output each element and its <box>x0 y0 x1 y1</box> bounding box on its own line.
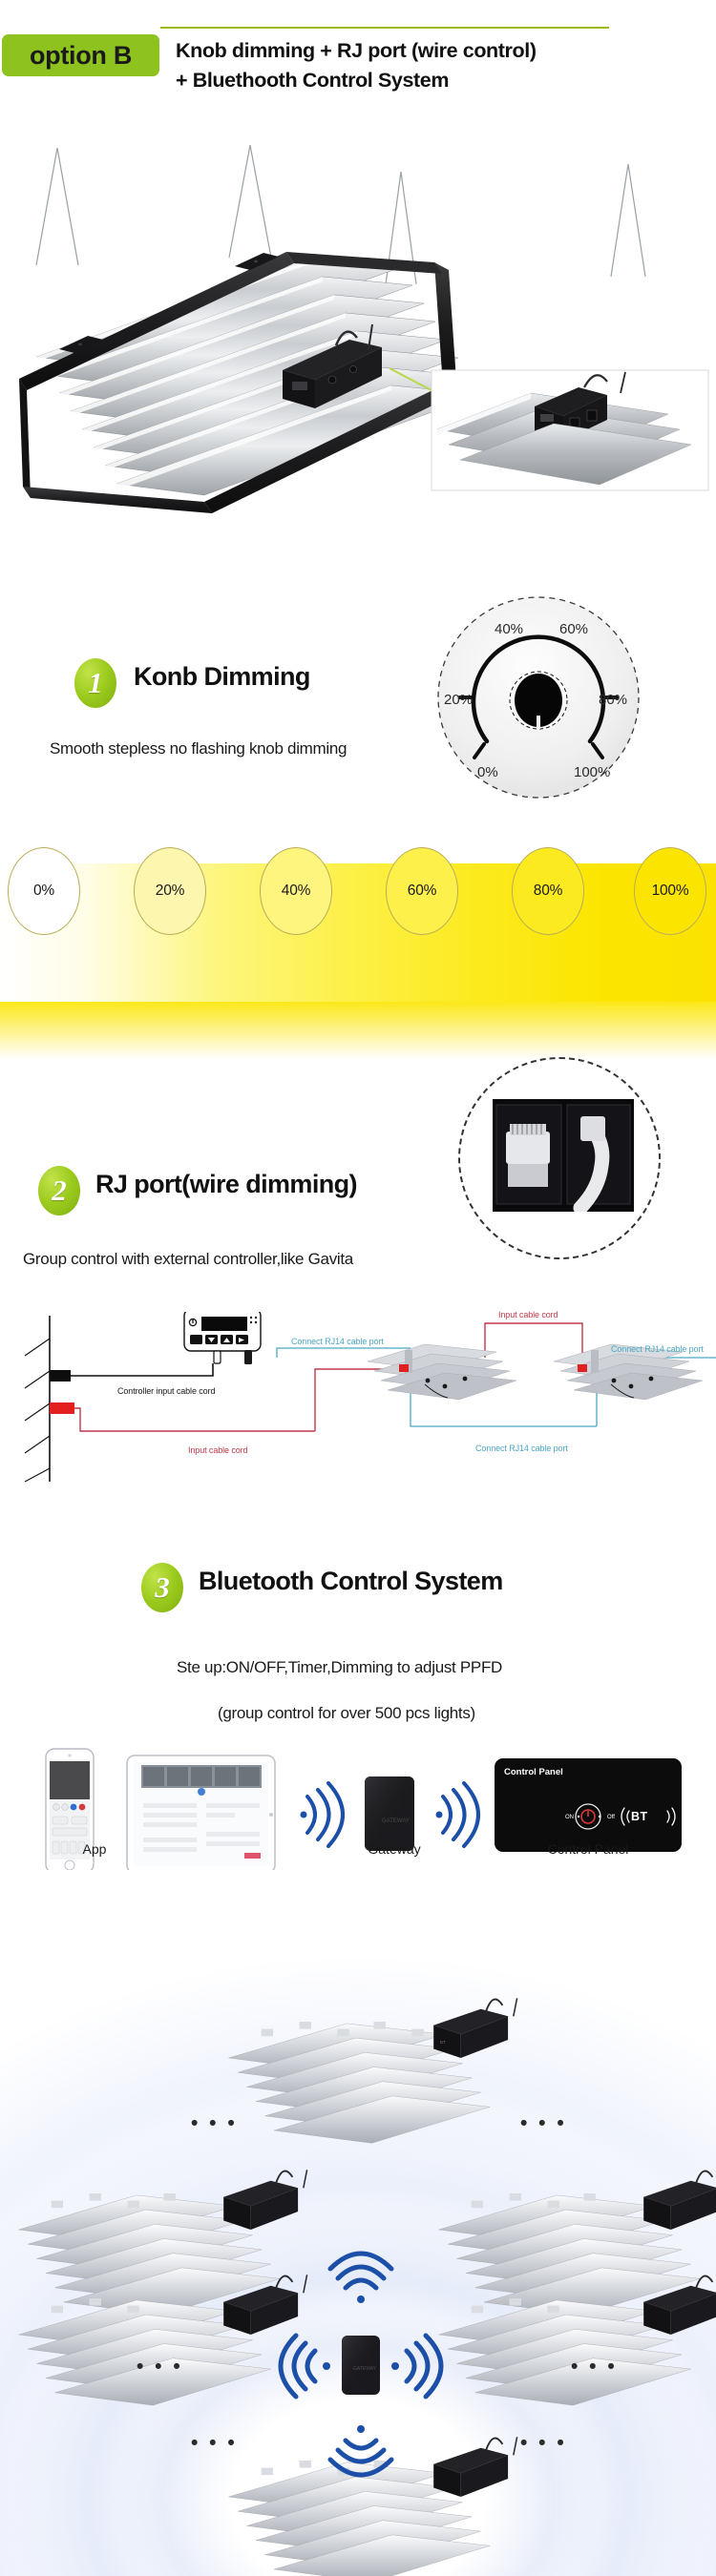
brightness-step-100[interactable]: 100% <box>634 847 706 935</box>
label-rj14-bottom: Connect RJ14 cable port <box>475 1444 568 1453</box>
light-fixture-1 <box>368 1344 516 1400</box>
bt-signal-arcs <box>621 1808 675 1825</box>
detail-inset <box>432 370 708 490</box>
bluetooth-wave-right <box>443 1783 478 1846</box>
network-fixture-top: BT <box>229 1998 517 2143</box>
network-gateway-device: GATEWAY <box>342 2336 380 2395</box>
svg-text:BT: BT <box>440 2040 446 2046</box>
grow-light-illustration <box>0 143 716 563</box>
bluetooth-wave-left <box>307 1783 343 1846</box>
light-frame <box>19 252 481 513</box>
label-input-cord-top: Input cable cord <box>498 1310 558 1319</box>
device-label-app: App <box>42 1841 147 1857</box>
wifi-icon-left <box>281 2336 315 2397</box>
dial-label-100: 100% <box>574 764 610 780</box>
wifi-icon-right <box>407 2336 441 2397</box>
brightness-step-60[interactable]: 60% <box>386 847 458 935</box>
label-rj14-top: Connect RJ14 cable port <box>291 1337 384 1346</box>
gateway-device: GATEWAY <box>365 1776 414 1851</box>
page-title-line1: Knob dimming + RJ port (wire control) <box>176 36 710 66</box>
bluetooth-network-diagram: BT <box>0 1870 716 2576</box>
wall-symbol <box>25 1316 50 1482</box>
ellipsis-bottom-left: • • • <box>191 2433 238 2453</box>
section-3-number: 3 <box>141 1563 183 1612</box>
section-1-subtitle: Smooth stepless no flashing knob dimming <box>50 739 347 758</box>
wifi-icon-down-dot <box>357 2425 365 2433</box>
ellipsis-mid-right: • • • <box>571 2357 618 2377</box>
page-title-line2: + Bluethooth Control System <box>176 66 710 95</box>
brightness-band-fade <box>0 1002 716 1059</box>
page-root: option B Knob dimming + RJ port (wire co… <box>0 0 716 2576</box>
control-panel-bt-label: BT <box>631 1810 648 1823</box>
section-2-number: 2 <box>38 1166 80 1215</box>
dial-label-80: 80% <box>599 692 627 708</box>
dial-label-40: 40% <box>495 621 523 637</box>
brightness-step-80[interactable]: 80% <box>512 847 584 935</box>
wifi-icon-up <box>330 2254 391 2288</box>
wifi-icon-right-dot <box>391 2362 399 2370</box>
wifi-icon-up-dot <box>357 2296 365 2303</box>
section-3-subtitle-2: (group control for over 500 pcs lights) <box>218 1704 475 1723</box>
header-rule <box>160 27 609 29</box>
section-3-title: Bluetooth Control System <box>199 1567 503 1596</box>
device-label-gateway: Gateway <box>342 1841 447 1857</box>
option-badge: option B <box>2 34 159 76</box>
dial-label-20: 20% <box>444 692 473 708</box>
tablet-device <box>127 1755 275 1873</box>
led-bars <box>36 259 481 495</box>
rj-port-photo <box>493 1099 634 1212</box>
control-panel-device[interactable]: Control Panel ON Off BT <box>495 1758 682 1852</box>
wiring-diagram: Controller input cable cord Input cable … <box>0 1312 716 1512</box>
section-1-title: Konb Dimming <box>134 662 310 692</box>
brightness-step-40[interactable]: 40% <box>260 847 332 935</box>
ellipsis-top-left: • • • <box>191 2113 238 2133</box>
ellipsis-bottom-right: • • • <box>520 2433 567 2453</box>
section-2-title: RJ port(wire dimming) <box>95 1170 357 1199</box>
brightness-step-0[interactable]: 0% <box>8 847 80 935</box>
page-title: Knob dimming + RJ port (wire control) + … <box>176 36 710 95</box>
ellipsis-top-right: • • • <box>520 2113 567 2133</box>
rj14-connector <box>506 1124 550 1187</box>
network-driver-box: BT <box>433 1998 516 2058</box>
controller-cord-line <box>53 1363 213 1376</box>
device-label-control-panel: Control Panel <box>536 1841 641 1857</box>
dimming-knob-dial[interactable]: 40% 60% 20% 80% 0% 100% <box>434 593 642 801</box>
wifi-icon-left-dot <box>323 2362 330 2370</box>
brightness-step-20[interactable]: 20% <box>134 847 206 935</box>
section-1-number: 1 <box>74 658 116 708</box>
brightness-gradient-band <box>0 863 716 1002</box>
section-3-subtitle: Ste up:ON/OFF,Timer,Dimming to adjust PP… <box>177 1658 502 1677</box>
control-panel-graphics <box>495 1758 682 1852</box>
label-controller-cord: Controller input cable cord <box>117 1386 215 1396</box>
dial-label-60: 60% <box>559 621 588 637</box>
svg-text:GATEWAY: GATEWAY <box>353 2366 377 2372</box>
label-input-cord-bottom: Input cable cord <box>188 1445 247 1455</box>
external-controller <box>184 1312 261 1364</box>
ellipsis-mid-left: • • • <box>137 2357 183 2377</box>
product-hero-image <box>0 143 716 563</box>
header: option B Knob dimming + RJ port (wire co… <box>0 21 716 116</box>
input-cord-line-bottom <box>74 1408 315 1431</box>
section-2-subtitle: Group control with external controller,l… <box>23 1250 353 1269</box>
label-rj14-right: Connect RJ14 cable port <box>611 1344 704 1354</box>
dial-label-0: 0% <box>477 764 498 780</box>
svg-text:GATEWAY: GATEWAY <box>382 1818 410 1824</box>
